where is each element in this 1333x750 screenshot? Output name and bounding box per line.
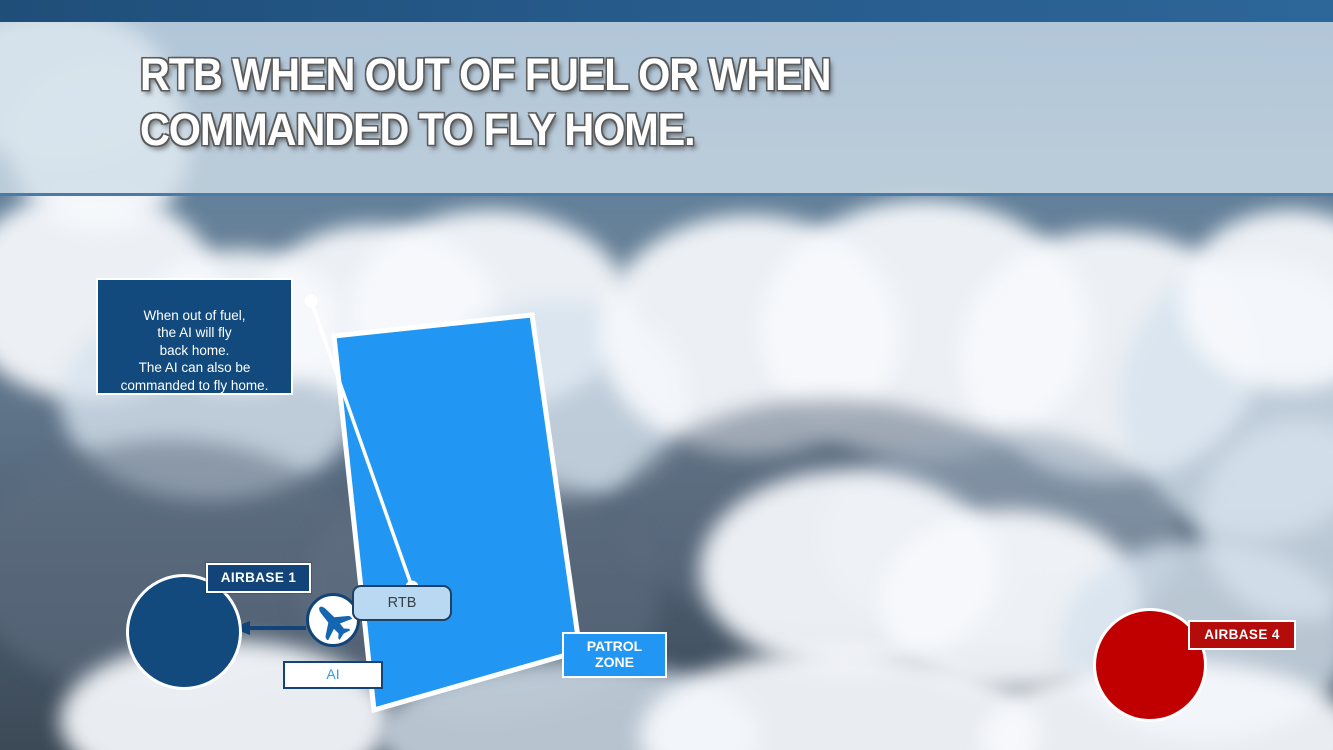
fighter-jet-glyph [313,600,353,640]
airbase-4-label-text: AIRBASE 4 [1204,627,1280,642]
ai-unit-label[interactable]: AI [283,661,383,689]
airbase-1-label-text: AIRBASE 1 [221,570,297,585]
slide-canvas: RTB WHEN OUT OF FUEL OR WHEN COMMANDED T… [0,0,1333,750]
airbase-4-label[interactable]: AIRBASE 4 [1188,620,1296,650]
leader-line-start-dot [305,295,318,308]
info-callout-box: When out of fuel, the AI will fly back h… [96,278,293,395]
airbase-1-label[interactable]: AIRBASE 1 [206,563,311,593]
rtb-callout-text: RTB [388,595,417,611]
ai-unit-label-text: AI [326,667,339,683]
patrol-zone-label[interactable]: PATROL ZONE [562,632,667,678]
patrol-zone-label-text: PATROL ZONE [587,639,642,670]
rtb-callout[interactable]: RTB [352,585,452,621]
patrol-zone-polygon[interactable] [334,315,580,710]
info-callout-text: When out of fuel, the AI will fly back h… [121,308,269,393]
